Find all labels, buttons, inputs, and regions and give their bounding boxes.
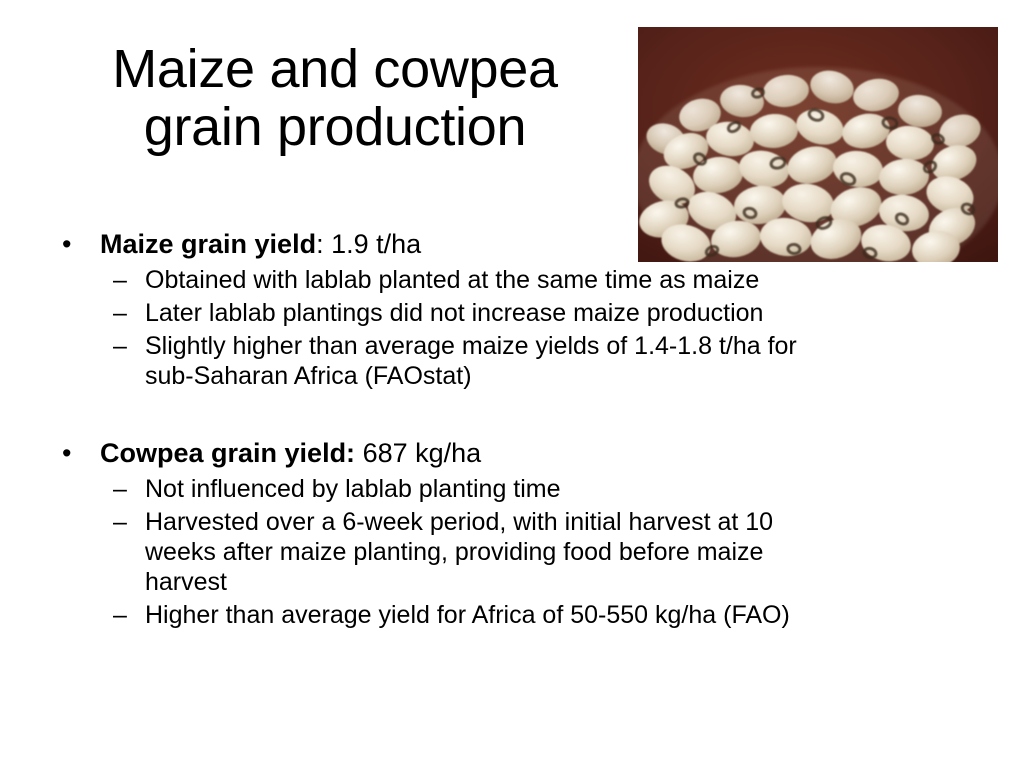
sub-bullet: – Later lablab plantings did not increas… <box>48 298 978 328</box>
dash-marker: – <box>113 265 127 295</box>
sub-bullet-line: Higher than average yield for Africa of … <box>145 600 978 630</box>
bullet-maize-grain-yield: • Maize grain yield: 1.9 t/ha <box>48 228 978 261</box>
sub-bullet: – Obtained with lablab planted at the sa… <box>48 265 978 295</box>
sub-bullet-line: Later lablab plantings did not increase … <box>145 298 978 328</box>
bullet-label: Cowpea grain yield: <box>100 438 355 468</box>
dash-marker: – <box>113 507 127 537</box>
dash-marker: – <box>113 474 127 504</box>
title-line-1: Maize and cowpea <box>30 40 640 98</box>
sub-bullet-line: harvest <box>145 567 978 597</box>
slide-body: • Maize grain yield: 1.9 t/ha – Obtained… <box>48 228 978 630</box>
sub-bullet-line: Obtained with lablab planted at the same… <box>145 265 978 295</box>
bullet-label: Maize grain yield <box>100 229 316 259</box>
sub-bullet-line: Harvested over a 6-week period, with ini… <box>145 507 978 537</box>
cowpea-photo-graphic <box>638 27 998 262</box>
bullet-marker: • <box>62 228 71 261</box>
dash-marker: – <box>113 600 127 630</box>
sub-bullet: – Harvested over a 6-week period, with i… <box>48 507 978 597</box>
sub-bullet-line: weeks after maize planting, providing fo… <box>145 537 978 567</box>
bullet-value: 687 kg/ha <box>355 438 481 468</box>
sub-bullet: – Not influenced by lablab planting time <box>48 474 978 504</box>
slide: Maize and cowpea grain production <box>0 0 1024 768</box>
sub-bullet: – Slightly higher than average maize yie… <box>48 331 978 391</box>
sub-bullet-line: sub-Saharan Africa (FAOstat) <box>145 361 978 391</box>
bullet-marker: • <box>62 437 71 470</box>
bullet-cowpea-grain-yield: • Cowpea grain yield: 687 kg/ha <box>48 437 978 470</box>
cowpea-grain-photo <box>638 27 998 262</box>
sub-bullet-line: Not influenced by lablab planting time <box>145 474 978 504</box>
title-line-2: grain production <box>30 98 640 156</box>
dash-marker: – <box>113 298 127 328</box>
page-title: Maize and cowpea grain production <box>30 40 640 157</box>
sub-bullet-line: Slightly higher than average maize yield… <box>145 331 978 361</box>
dash-marker: – <box>113 331 127 361</box>
bullet-value: : 1.9 t/ha <box>316 229 421 259</box>
sub-bullet: – Higher than average yield for Africa o… <box>48 600 978 630</box>
bullet-group-spacer <box>48 391 978 437</box>
